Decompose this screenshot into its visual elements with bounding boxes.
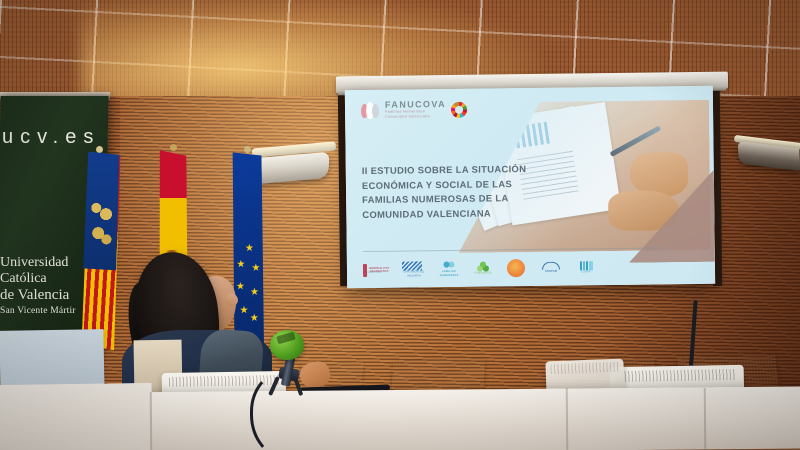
- flag-finial-spain: [170, 144, 177, 151]
- european-union-flag: ★ ★ ★ ★ ★ ★ ★: [229, 152, 266, 349]
- presentation-slide: FANUCOVA Familias Numerosas Comunidad Va…: [345, 86, 715, 288]
- fundacion-verde-logo: FUNDACIÓN: [472, 258, 494, 278]
- sponsor-label-5: ANAFAM: [542, 270, 560, 273]
- presenters-desk-left-section: [0, 383, 152, 450]
- sponsor-label-6: LUDUS: [580, 270, 593, 273]
- generalitat-valenciana-logo: GENERALITAT VALENCIANA: [363, 260, 391, 280]
- sponsor-label-2: FAMILIAS NUMEROSAS: [437, 270, 461, 277]
- anafam-logo: ANAFAM: [538, 258, 564, 278]
- projection-screen: FANUCOVA Familias Numerosas Comunidad Va…: [345, 86, 715, 288]
- flag-finial-eu: [244, 146, 251, 153]
- slide-sponsor-logos: GENERALITAT VALENCIANA DIPUTACIÓ DE VALÈ…: [363, 257, 597, 280]
- slide-title: II ESTUDIO SOBRE LA SITUACIÓN ECONÓMICA …: [362, 162, 543, 223]
- valencian-flag-crown-emblem: [87, 196, 115, 257]
- flag-finial-valencia: [96, 146, 103, 153]
- sdg-color-wheel-icon: [451, 101, 467, 117]
- slide-title-line-4: COMUNIDAD VALENCIANA: [362, 206, 542, 223]
- laptop-far-right-vent: [550, 362, 619, 374]
- sello-naranja-logo: [505, 258, 527, 278]
- sponsor-label-0: GENERALITAT VALENCIANA: [367, 267, 391, 274]
- diputacio-valencia-logo: DIPUTACIÓ DE VALÈNCIA: [402, 259, 426, 279]
- fanucova-name: FANUCOVA: [385, 100, 446, 110]
- fanucova-family-icon: [361, 101, 380, 120]
- slide-title-line-1: II ESTUDIO SOBRE LA SITUACIÓN: [362, 162, 542, 179]
- familias-numerosas-logo: FAMILIAS NUMEROSAS: [437, 259, 461, 279]
- banner-url-text: ucv.es: [2, 126, 106, 149]
- sponsor-label-1: DIPUTACIÓ DE VALÈNCIA: [402, 271, 426, 278]
- fanucova-subtitle-2: Comunidad Valenciana: [385, 114, 446, 119]
- laptop-right-vent: [618, 369, 736, 382]
- ludus-logo: LUDUS: [575, 257, 597, 277]
- conference-room-scene: FANUCOVA Familias Numerosas Comunidad Va…: [0, 0, 800, 450]
- fanucova-logo: FANUCOVA Familias Numerosas Comunidad Va…: [361, 100, 467, 120]
- sponsor-label-3: FUNDACIÓN: [474, 272, 491, 275]
